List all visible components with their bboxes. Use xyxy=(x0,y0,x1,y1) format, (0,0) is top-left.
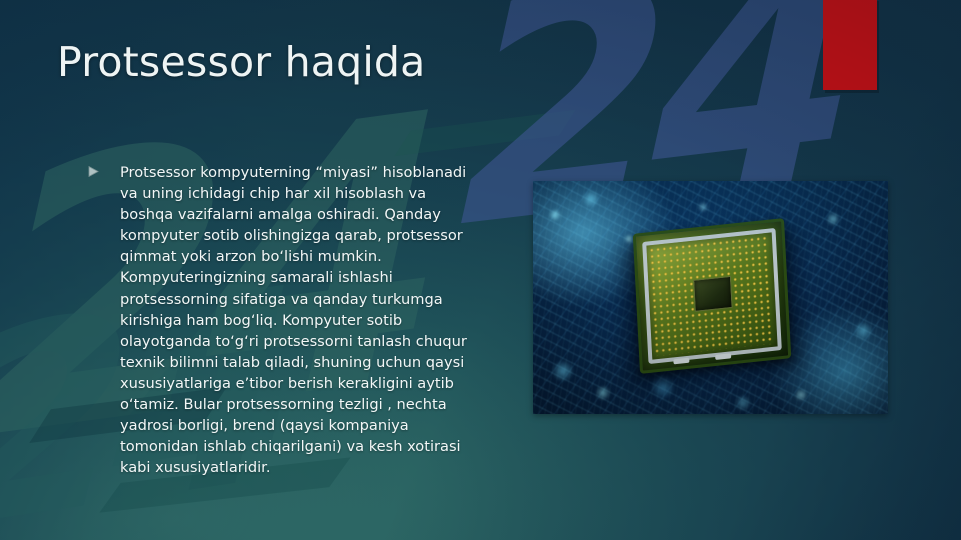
triangle-right-icon xyxy=(88,162,104,177)
cpu-processor-photo xyxy=(533,181,888,414)
cpu-chip xyxy=(633,218,792,374)
presentation-slide: 24 24 24 Protsessor haqida Protsessor ko… xyxy=(0,0,961,540)
page-title: Protsessor haqida xyxy=(57,38,757,86)
body-paragraph: Protsessor kompyuterning “miyasi” hisobl… xyxy=(120,162,480,478)
body-bullet-item: Protsessor kompyuterning “miyasi” hisobl… xyxy=(88,162,480,478)
cpu-die xyxy=(693,276,732,312)
